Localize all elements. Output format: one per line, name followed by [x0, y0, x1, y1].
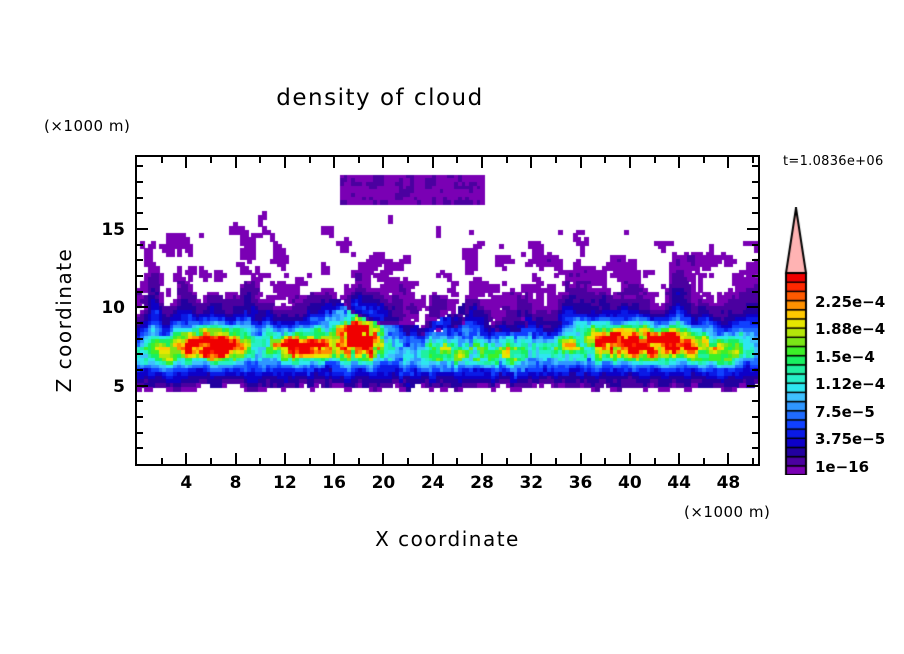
y-minor-tick — [137, 181, 143, 183]
x-major-tick-top — [432, 157, 434, 168]
x-major-tick — [678, 453, 680, 464]
x-major-tick — [727, 453, 729, 464]
y-minor-tick — [137, 291, 143, 293]
y-tick-label: 10 — [89, 298, 125, 318]
y-axis-unit-label: (×1000 m) — [44, 119, 130, 134]
x-axis-unit-label: (×1000 m) — [684, 505, 770, 520]
x-minor-tick — [752, 458, 754, 464]
contour-plot-area — [135, 155, 760, 466]
y-minor-tick-right — [752, 212, 758, 214]
x-tick-label: 4 — [161, 473, 211, 493]
y-minor-tick-right — [752, 416, 758, 418]
x-minor-tick-top — [309, 157, 311, 163]
x-tick-label: 12 — [260, 473, 310, 493]
y-major-tick-right — [747, 228, 758, 230]
y-major-tick-right — [747, 385, 758, 387]
y-minor-tick-right — [752, 353, 758, 355]
y-minor-tick-right — [752, 369, 758, 371]
x-minor-tick-top — [358, 157, 360, 163]
y-major-tick — [137, 306, 148, 308]
x-minor-tick — [654, 458, 656, 464]
x-major-tick — [432, 453, 434, 464]
colorbar-tick-label: 1.88e−4 — [815, 320, 885, 338]
x-tick-label: 16 — [309, 473, 359, 493]
x-major-tick — [481, 453, 483, 464]
y-major-tick-right — [747, 306, 758, 308]
x-minor-tick-top — [456, 157, 458, 163]
y-minor-tick-right — [752, 338, 758, 340]
colorbar-tick-label: 7.5e−5 — [815, 403, 875, 421]
x-tick-label: 8 — [211, 473, 261, 493]
x-major-tick-top — [185, 157, 187, 168]
y-minor-tick-right — [752, 432, 758, 434]
x-major-tick — [382, 453, 384, 464]
figure-root: density of cloud (×1000 m) (×1000 m) t=1… — [0, 0, 904, 654]
x-minor-tick-top — [752, 157, 754, 163]
colorbar-gradient — [783, 207, 809, 475]
y-minor-tick — [137, 275, 143, 277]
x-minor-tick — [309, 458, 311, 464]
x-major-tick — [284, 453, 286, 464]
y-axis-title: Z coordinate — [54, 210, 74, 430]
colorbar: 2.25e−41.88e−41.5e−41.12e−47.5e−53.75e−5… — [783, 207, 809, 475]
y-minor-tick — [137, 212, 143, 214]
colorbar-tick-label: 1.12e−4 — [815, 375, 885, 393]
y-minor-tick-right — [752, 291, 758, 293]
x-minor-tick-top — [506, 157, 508, 163]
y-minor-tick-right — [752, 400, 758, 402]
colorbar-tick-label: 2.25e−4 — [815, 293, 885, 311]
x-minor-tick — [506, 458, 508, 464]
x-minor-tick-top — [407, 157, 409, 163]
y-minor-tick — [137, 322, 143, 324]
y-minor-tick — [137, 369, 143, 371]
x-major-tick-top — [382, 157, 384, 168]
x-tick-label: 36 — [556, 473, 606, 493]
y-minor-tick — [137, 244, 143, 246]
y-major-tick — [137, 385, 148, 387]
x-major-tick-top — [333, 157, 335, 168]
y-minor-tick — [137, 353, 143, 355]
x-minor-tick — [407, 458, 409, 464]
y-minor-tick — [137, 259, 143, 261]
x-tick-label: 48 — [703, 473, 753, 493]
y-minor-tick — [137, 338, 143, 340]
x-minor-tick-top — [654, 157, 656, 163]
x-minor-tick — [456, 458, 458, 464]
x-axis-title: X coordinate — [135, 529, 760, 549]
y-tick-label: 15 — [89, 220, 125, 240]
x-minor-tick-top — [161, 157, 163, 163]
x-major-tick-top — [727, 157, 729, 168]
y-minor-tick — [137, 447, 143, 449]
y-minor-tick-right — [752, 181, 758, 183]
y-minor-tick — [137, 165, 143, 167]
x-minor-tick — [604, 458, 606, 464]
x-tick-label: 28 — [457, 473, 507, 493]
x-major-tick — [185, 453, 187, 464]
x-minor-tick-top — [259, 157, 261, 163]
x-major-tick-top — [629, 157, 631, 168]
y-minor-tick — [137, 432, 143, 434]
x-tick-label: 40 — [605, 473, 655, 493]
x-major-tick — [580, 453, 582, 464]
x-minor-tick — [161, 458, 163, 464]
y-major-tick — [137, 228, 148, 230]
colorbar-tick-label: 1e−16 — [815, 458, 869, 476]
y-minor-tick-right — [752, 322, 758, 324]
x-major-tick-top — [284, 157, 286, 168]
y-minor-tick-right — [752, 165, 758, 167]
y-minor-tick-right — [752, 197, 758, 199]
x-minor-tick-top — [703, 157, 705, 163]
x-minor-tick-top — [210, 157, 212, 163]
x-major-tick-top — [235, 157, 237, 168]
x-major-tick — [530, 453, 532, 464]
x-tick-label: 24 — [408, 473, 458, 493]
x-major-tick-top — [481, 157, 483, 168]
x-minor-tick — [210, 458, 212, 464]
x-tick-label: 32 — [506, 473, 556, 493]
x-major-tick-top — [580, 157, 582, 168]
y-minor-tick-right — [752, 259, 758, 261]
x-major-tick — [235, 453, 237, 464]
x-major-tick — [629, 453, 631, 464]
time-annotation: t=1.0836e+06 — [783, 155, 884, 168]
y-minor-tick — [137, 197, 143, 199]
x-minor-tick — [259, 458, 261, 464]
colorbar-tick-label: 1.5e−4 — [815, 348, 875, 366]
y-minor-tick-right — [752, 244, 758, 246]
x-major-tick — [333, 453, 335, 464]
x-minor-tick-top — [604, 157, 606, 163]
colorbar-tick-label: 3.75e−5 — [815, 430, 885, 448]
x-major-tick-top — [678, 157, 680, 168]
y-minor-tick-right — [752, 275, 758, 277]
page-title: density of cloud — [0, 87, 760, 110]
x-minor-tick — [358, 458, 360, 464]
x-minor-tick — [555, 458, 557, 464]
x-minor-tick-top — [555, 157, 557, 163]
x-minor-tick — [703, 458, 705, 464]
x-tick-label: 20 — [358, 473, 408, 493]
y-tick-label: 5 — [89, 377, 125, 397]
density-field-canvas — [137, 157, 758, 464]
y-minor-tick — [137, 416, 143, 418]
x-major-tick-top — [530, 157, 532, 168]
y-minor-tick — [137, 400, 143, 402]
x-tick-label: 44 — [654, 473, 704, 493]
y-minor-tick-right — [752, 447, 758, 449]
